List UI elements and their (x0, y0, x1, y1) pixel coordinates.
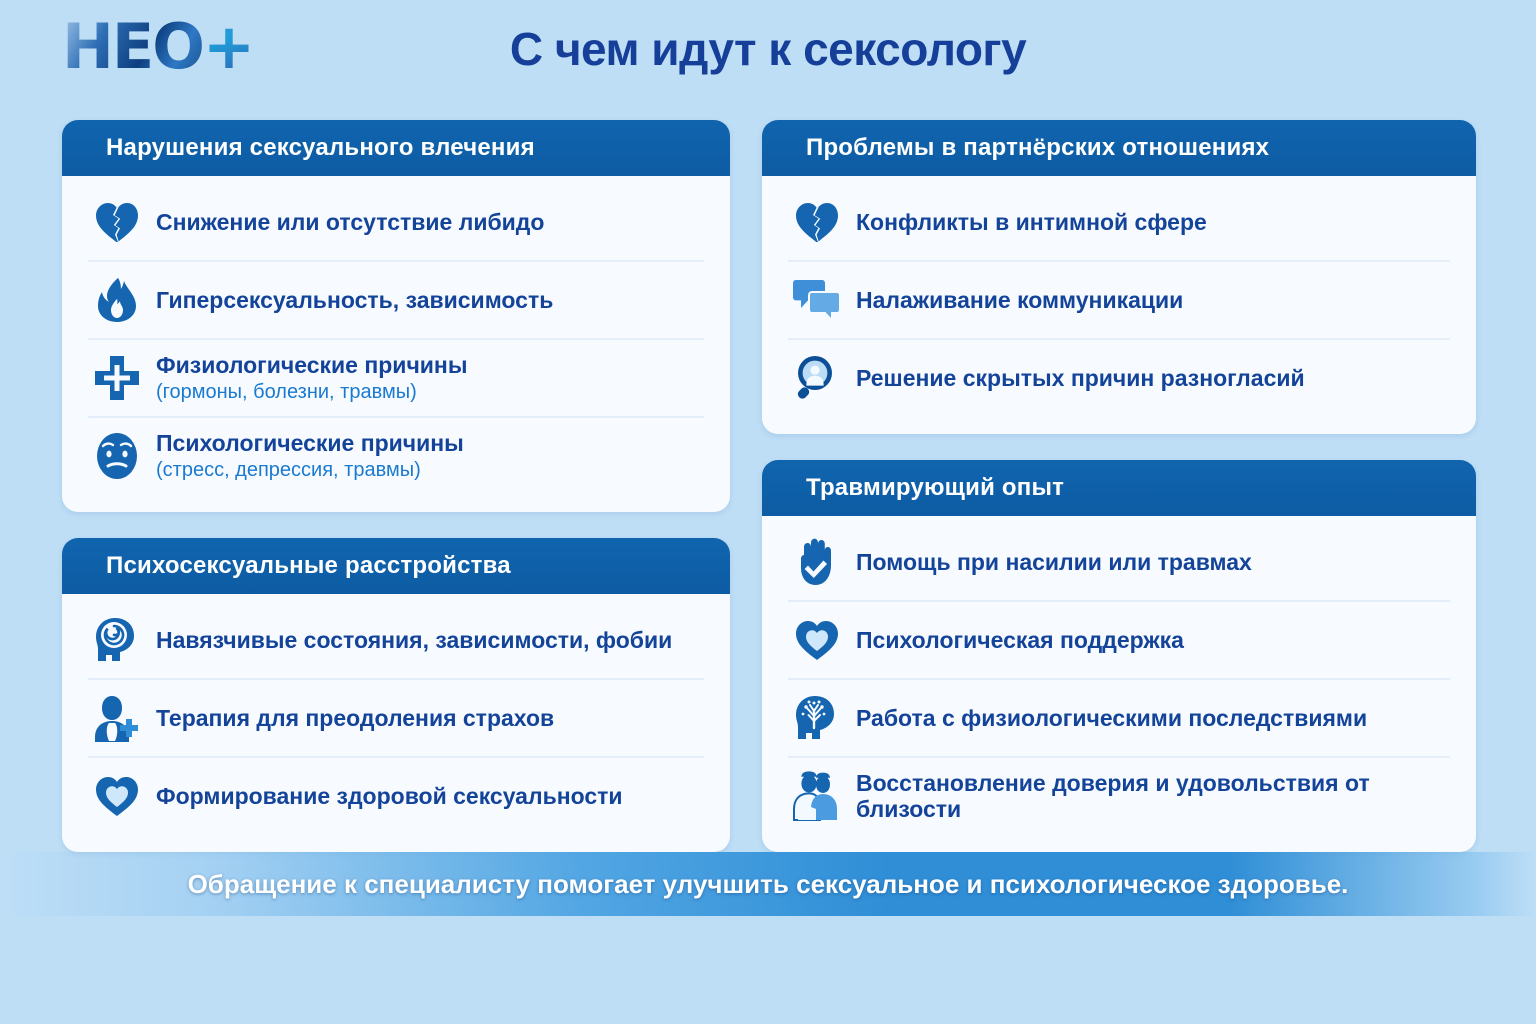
list-item[interactable]: Решение скрытых причин разногласий (788, 340, 1450, 416)
list-item-label: Снижение или отсутствие либидо (156, 209, 544, 235)
heart-inner-icon (88, 767, 146, 825)
list-item[interactable]: Навязчивые состояния, зависимости, фобии (88, 602, 704, 680)
list-item-text: Терапия для преодоления страхов (156, 705, 554, 731)
list-item[interactable]: Конфликты в интимной сфере (788, 184, 1450, 262)
list-item-text: Налаживание коммуникации (856, 287, 1183, 313)
list-item[interactable]: Формирование здоровой сексуальности (88, 758, 704, 834)
card-psychosexual-disorders: Психосексуальные расстройства Навязчивые… (62, 538, 730, 852)
list-item[interactable]: Снижение или отсутствие либидо (88, 184, 704, 262)
hand-check-icon (788, 533, 846, 591)
list-item-text: Восстановление доверия и удовольствия от… (856, 770, 1450, 823)
list-item-label: Формирование здоровой сексуальности (156, 783, 623, 809)
medical-cross-icon (88, 349, 146, 407)
card-sexual-desire-disorders: Нарушения сексуального влечения Снижение… (62, 120, 730, 512)
list-item[interactable]: Помощь при насилии или травмах (788, 524, 1450, 602)
list-item-label: Налаживание коммуникации (856, 287, 1183, 313)
list-item-sublabel: (гормоны, болезни, травмы) (156, 380, 467, 404)
card-title: Психосексуальные расстройства (62, 538, 730, 594)
list-item-sublabel: (стресс, депрессия, травмы) (156, 458, 464, 482)
card-items: Конфликты в интимной сфере Налаживание к… (762, 176, 1476, 434)
heart-inner-icon (788, 611, 846, 669)
list-item-text: Формирование здоровой сексуальности (156, 783, 623, 809)
list-item-text: Гиперсексуальность, зависимость (156, 287, 553, 313)
card-traumatic-experience: Травмирующий опыт Помощь при насилии или… (762, 460, 1476, 852)
list-item[interactable]: Налаживание коммуникации (788, 262, 1450, 340)
head-tree-icon (788, 689, 846, 747)
list-item[interactable]: Гиперсексуальность, зависимость (88, 262, 704, 340)
card-partner-relationship-problems: Проблемы в партнёрских отношениях Конфли… (762, 120, 1476, 434)
list-item-text: Решение скрытых причин разногласий (856, 365, 1305, 391)
list-item-text: Помощь при насилии или травмах (856, 549, 1252, 575)
list-item-label: Конфликты в интимной сфере (856, 209, 1207, 235)
list-item-label: Восстановление доверия и удовольствия от… (856, 770, 1450, 823)
page-header: НЕО+ С чем идут к сексологу (0, 0, 1536, 112)
list-item[interactable]: Психологическая поддержка (788, 602, 1450, 680)
list-item-label: Психологическая поддержка (856, 627, 1184, 653)
card-title: Нарушения сексуального влечения (62, 120, 730, 176)
list-item-text: Физиологические причины (гормоны, болезн… (156, 352, 467, 404)
card-title: Проблемы в партнёрских отношениях (762, 120, 1476, 176)
flame-icon (88, 271, 146, 329)
list-item-text: Работа с физиологическими последствиями (856, 705, 1367, 731)
broken-heart-icon (788, 193, 846, 251)
list-item[interactable]: Терапия для преодоления страхов (88, 680, 704, 758)
list-item-label: Решение скрытых причин разногласий (856, 365, 1305, 391)
head-spiral-icon (88, 611, 146, 669)
right-column: Проблемы в партнёрских отношениях Конфли… (762, 120, 1476, 878)
list-item-label: Работа с физиологическими последствиями (856, 705, 1367, 731)
list-item[interactable]: Физиологические причины (гормоны, болезн… (88, 340, 704, 418)
broken-heart-icon (88, 193, 146, 251)
list-item-label: Гиперсексуальность, зависимость (156, 287, 553, 313)
left-column: Нарушения сексуального влечения Снижение… (62, 120, 730, 878)
list-item[interactable]: Работа с физиологическими последствиями (788, 680, 1450, 758)
speech-bubbles-icon (788, 271, 846, 329)
card-items: Помощь при насилии или травмах Психологи… (762, 516, 1476, 852)
list-item-text: Психологическая поддержка (856, 627, 1184, 653)
list-item[interactable]: Психологические причины (стресс, депресс… (88, 418, 704, 494)
card-title: Травмирующий опыт (762, 460, 1476, 516)
person-plus-icon (88, 689, 146, 747)
card-items: Навязчивые состояния, зависимости, фобии… (62, 594, 730, 852)
list-item-label: Психологические причины (156, 430, 464, 456)
list-item-text: Психологические причины (стресс, депресс… (156, 430, 464, 482)
couple-embrace-icon (788, 767, 846, 825)
list-item-label: Навязчивые состояния, зависимости, фобии (156, 627, 672, 653)
footer-banner: Обращение к специалисту помогает улучшит… (0, 852, 1536, 916)
card-items: Снижение или отсутствие либидо Гиперсекс… (62, 176, 730, 512)
magnifier-person-icon (788, 349, 846, 407)
list-item-label: Терапия для преодоления страхов (156, 705, 554, 731)
list-item[interactable]: Восстановление доверия и удовольствия от… (788, 758, 1450, 834)
list-item-text: Снижение или отсутствие либидо (156, 209, 544, 235)
sad-face-icon (88, 427, 146, 485)
list-item-label: Физиологические причины (156, 352, 467, 378)
list-item-label: Помощь при насилии или травмах (856, 549, 1252, 575)
page-title: С чем идут к сексологу (0, 22, 1536, 76)
list-item-text: Конфликты в интимной сфере (856, 209, 1207, 235)
footer-text: Обращение к специалисту помогает улучшит… (188, 869, 1349, 900)
list-item-text: Навязчивые состояния, зависимости, фобии (156, 627, 672, 653)
